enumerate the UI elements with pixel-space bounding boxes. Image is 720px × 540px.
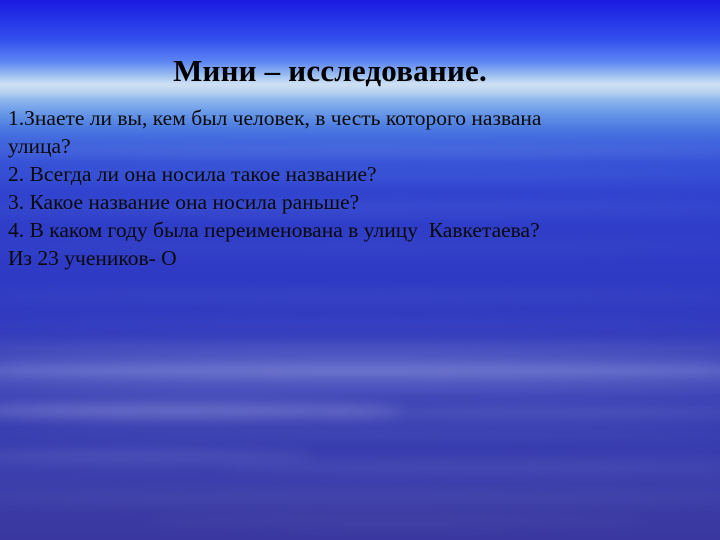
streak	[144, 516, 648, 526]
streak	[0, 428, 720, 437]
streak	[0, 404, 403, 418]
streak	[317, 408, 720, 418]
streak	[0, 492, 720, 503]
streak	[0, 384, 720, 394]
streak	[216, 462, 720, 472]
streak	[0, 344, 720, 356]
body-line: 1.Знаете ли вы, кем был человек, в честь…	[8, 104, 712, 132]
streak	[0, 292, 720, 301]
body-line: 2. Всегда ли она носила такое название?	[8, 160, 712, 188]
streak	[0, 362, 720, 378]
slide-title: Мини – исследование.	[0, 53, 660, 89]
streak	[0, 318, 720, 326]
presentation-slide: Мини – исследование. 1.Знаете ли вы, кем…	[0, 0, 720, 540]
slide-body: 1.Знаете ли вы, кем был человек, в честь…	[8, 104, 712, 272]
streak	[0, 450, 317, 462]
body-line: Из 23 учеников- О	[8, 244, 712, 272]
body-line: 4. В каком году была переименована в ули…	[8, 216, 712, 244]
body-line: 3. Какое название она носила раньше?	[8, 188, 712, 216]
body-line: улица?	[8, 132, 712, 160]
